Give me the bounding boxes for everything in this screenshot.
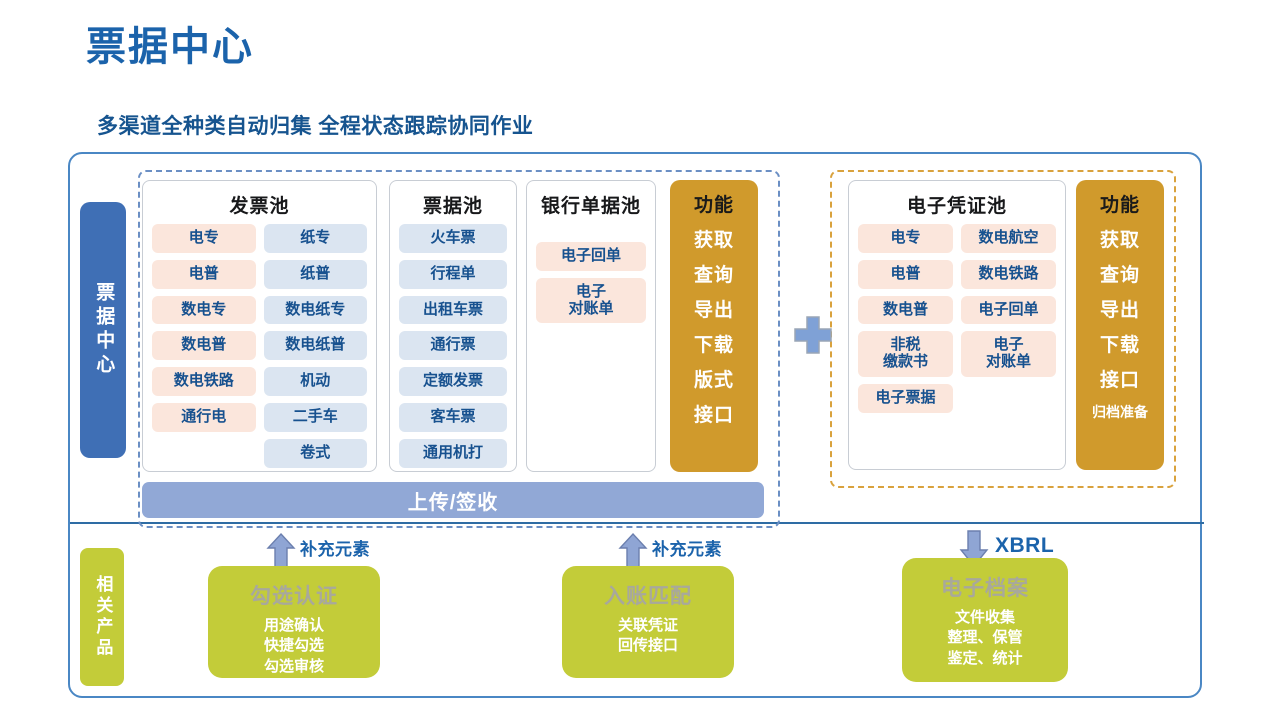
chip-item[interactable]: 电子回单 [961,296,1056,325]
function-item[interactable]: 导出 [694,295,734,322]
chip-item[interactable]: 客车票 [399,403,507,432]
sidebar-label-related-products-text: 相关产品 [93,575,112,659]
chip-item[interactable]: 数电普 [858,296,953,325]
slide-canvas: 票据中心 多渠道全种类自动归集 全程状态跟踪协同作业 票据中心 发票池 电专 电… [0,0,1269,722]
chip-item[interactable]: 出租车票 [399,296,507,325]
function-item[interactable]: 查询 [694,260,734,287]
function-item[interactable]: 获取 [694,225,734,252]
chip-item[interactable]: 电普 [858,260,953,289]
chip-item[interactable]: 卷式 [264,439,368,468]
product-card-check-certification[interactable]: 勾选认证 用途确认 快捷勾选 勾选审核 [208,566,380,678]
plus-icon [792,314,834,356]
chip-item[interactable]: 行程单 [399,260,507,289]
function-item[interactable]: 下载 [1100,330,1140,357]
chip-item[interactable]: 火车票 [399,224,507,253]
pool-evoucher: 电子凭证池 电专 电普 数电普 非税 缴款书 电子票据 数电航空 数电铁路 电子… [848,180,1066,470]
upload-signoff-bar[interactable]: 上传/签收 [142,482,764,518]
chip-item[interactable]: 数电普 [152,331,256,360]
function-item-archive-prep[interactable]: 归档准备 [1092,402,1148,422]
pool-evoucher-title: 电子凭证池 [849,191,1065,218]
pool-bank-title: 银行单据池 [527,191,655,218]
pool-ticket-title: 票据池 [390,191,516,218]
product-card-title: 入账匹配 [604,580,692,610]
chip-item[interactable]: 数电航空 [961,224,1056,253]
function-panel-evoucher: 功能 获取 查询 导出 下载 接口 归档准备 [1076,180,1164,470]
chip-item[interactable]: 电普 [152,260,256,289]
chip-item[interactable]: 电专 [152,224,256,253]
chip-item[interactable]: 机动 [264,367,368,396]
annotation-xbrl: XBRL [995,534,1054,558]
diagram-frame: 票据中心 发票池 电专 电普 数电专 数电普 数电铁路 通行电 纸专 纸普 数电… [68,152,1202,698]
function-item[interactable]: 获取 [1100,225,1140,252]
annotation-supplement-elements: 补充元素 [652,535,722,560]
function-panel-evoucher-title: 功能 [1100,190,1140,217]
function-item[interactable]: 查询 [1100,260,1140,287]
product-card-lines: 用途确认 快捷勾选 勾选审核 [264,616,324,677]
pool-invoice: 发票池 电专 电普 数电专 数电普 数电铁路 通行电 纸专 纸普 数电纸专 数电… [142,180,377,472]
chip-item[interactable]: 数电铁路 [961,260,1056,289]
chip-item[interactable]: 非税 缴款书 [858,331,953,377]
sidebar-label-bill-center-text: 票据中心 [92,282,114,378]
product-card-title: 勾选认证 [250,580,338,610]
pool-bank-column: 电子回单 电子 对账单 [536,242,646,323]
page-title: 票据中心 [86,14,254,72]
chip-item[interactable]: 二手车 [264,403,368,432]
chip-item[interactable]: 数电专 [152,296,256,325]
product-card-booking-match[interactable]: 入账匹配 关联凭证 回传接口 [562,566,734,678]
pool-ticket: 票据池 火车票 行程单 出租车票 通行票 定额发票 客车票 通用机打 [389,180,517,472]
chip-item[interactable]: 电子票据 [858,384,953,413]
pool-bank: 银行单据池 电子回单 电子 对账单 [526,180,656,472]
function-panel-bills: 功能 获取 查询 导出 下载 版式 接口 [670,180,758,472]
product-card-electronic-archive[interactable]: 电子档案 文件收集 整理、保管 鉴定、统计 [902,558,1068,682]
chip-item[interactable]: 数电纸普 [264,331,368,360]
product-card-title: 电子档案 [941,572,1029,602]
function-item[interactable]: 接口 [694,400,734,427]
chip-item[interactable]: 数电纸专 [264,296,368,325]
chip-item[interactable]: 电子 对账单 [961,331,1056,377]
product-card-lines: 文件收集 整理、保管 鉴定、统计 [947,608,1022,669]
pool-invoice-right-column: 纸专 纸普 数电纸专 数电纸普 机动 二手车 卷式 [264,224,368,468]
function-item[interactable]: 导出 [1100,295,1140,322]
chip-item[interactable]: 通用机打 [399,439,507,468]
pool-invoice-left-column: 电专 电普 数电专 数电普 数电铁路 通行电 [152,224,256,468]
chip-item[interactable]: 电子回单 [536,242,646,271]
sidebar-label-related-products: 相关产品 [80,548,124,686]
chip-item[interactable]: 通行票 [399,331,507,360]
chip-item[interactable]: 纸普 [264,260,368,289]
chip-item[interactable]: 纸专 [264,224,368,253]
pool-evoucher-right-column: 数电航空 数电铁路 电子回单 电子 对账单 [961,224,1056,413]
chip-item[interactable]: 通行电 [152,403,256,432]
pool-invoice-title: 发票池 [143,191,376,218]
function-item[interactable]: 下载 [694,330,734,357]
annotation-supplement-elements: 补充元素 [300,535,370,560]
upload-signoff-bar-label: 上传/签收 [408,486,499,515]
pool-ticket-column: 火车票 行程单 出租车票 通行票 定额发票 客车票 通用机打 [399,224,507,468]
chip-item[interactable]: 定额发票 [399,367,507,396]
product-card-lines: 关联凭证 回传接口 [618,616,678,657]
page-subtitle: 多渠道全种类自动归集 全程状态跟踪协同作业 [97,110,533,140]
chip-item[interactable]: 电专 [858,224,953,253]
chip-item[interactable]: 电子 对账单 [536,278,646,324]
function-item[interactable]: 接口 [1100,365,1140,392]
chip-item[interactable]: 数电铁路 [152,367,256,396]
function-item[interactable]: 版式 [694,365,734,392]
sidebar-label-bill-center: 票据中心 [80,202,126,458]
function-panel-bills-title: 功能 [694,190,734,217]
pool-evoucher-left-column: 电专 电普 数电普 非税 缴款书 电子票据 [858,224,953,413]
